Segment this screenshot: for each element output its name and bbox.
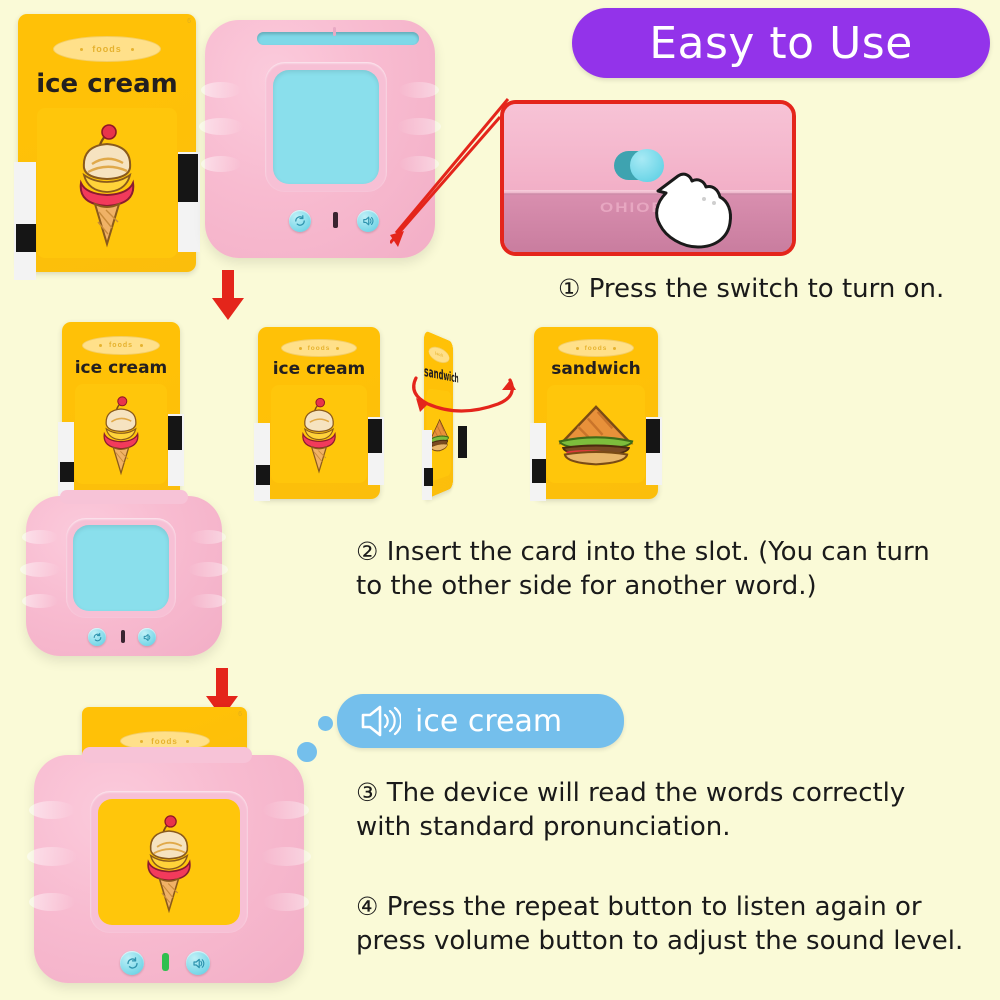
card-category-label: foods — [109, 342, 133, 349]
speaker-icon — [357, 703, 401, 739]
speech-word: ice cream — [415, 704, 562, 739]
speech-bubble: ice cream — [337, 694, 624, 748]
device-bottom — [34, 755, 304, 983]
card-inserted-ice-cream: foods ice cream — [62, 322, 180, 500]
down-arrow-1 — [206, 270, 250, 322]
card-word-label: ice cream — [18, 69, 196, 99]
repeat-icon — [125, 956, 140, 971]
card-category-label: foods — [435, 351, 443, 359]
step-4-line-1: Press the repeat button to listen again … — [387, 892, 922, 922]
ice-cream-cone-icon — [68, 118, 146, 248]
step-1-number: ① — [558, 274, 580, 303]
card-category-label: foods — [92, 44, 122, 54]
card-illustration — [37, 108, 177, 258]
step-4-text: ④ Press the repeat button to listen agai… — [356, 890, 1000, 959]
switch-callout: OHIOE — [500, 100, 796, 256]
pointing-hand-icon — [644, 159, 744, 251]
step-3-number: ③ — [356, 778, 378, 807]
repeat-button[interactable] — [88, 628, 106, 646]
step-2-number: ② — [356, 537, 378, 566]
down-arrow-icon — [206, 270, 250, 322]
card-word-label: ice cream — [258, 359, 380, 379]
card-word-label: ice cream — [62, 358, 180, 378]
step-2-line-1: Insert the card into the slot. (You can … — [387, 537, 930, 567]
repeat-button[interactable] — [120, 951, 144, 975]
status-led — [333, 212, 338, 228]
step-4-line-2: press volume button to adjust the sound … — [356, 926, 963, 956]
card-illustration — [547, 385, 645, 483]
card-top-ice-cream: foods ice cream 6 — [18, 14, 196, 272]
ice-cream-cone-icon — [138, 809, 200, 915]
card-word-label: sandwich — [534, 359, 658, 379]
repeat-button[interactable] — [289, 210, 311, 232]
speech-dot-tiny — [316, 714, 335, 733]
step-1-text: ① Press the switch to turn on. — [558, 272, 998, 306]
card-row-ice-cream: foods ice cream — [258, 327, 380, 499]
card-illustration — [271, 385, 367, 483]
device-screen — [73, 525, 169, 611]
card-category-label: foods — [585, 345, 608, 352]
card-illustration — [75, 384, 167, 484]
step-1-label: Press the switch to turn on. — [589, 274, 945, 304]
device-middle — [26, 496, 222, 656]
step-3-text: ③ The device will read the words correct… — [356, 776, 996, 845]
rotate-arrow-icon — [398, 360, 528, 424]
card-corner-mark: 6 — [187, 18, 191, 25]
sandwich-icon — [555, 402, 637, 466]
ice-cream-cone-icon — [295, 392, 343, 476]
step-2-text: ② Insert the card into the slot. (You ca… — [356, 535, 996, 604]
card-category-label: foods — [151, 737, 178, 746]
step-3-line-2: with standard pronunciation. — [356, 812, 731, 842]
step-3-line-1: The device will read the words correctly — [387, 778, 906, 808]
device-screen — [98, 799, 240, 925]
title-text: Easy to Use — [649, 18, 913, 69]
repeat-icon — [92, 632, 103, 643]
step-4-number: ④ — [356, 892, 378, 921]
status-led — [121, 630, 125, 643]
step-2-line-2: to the other side for another word.) — [356, 571, 817, 601]
volume-icon — [142, 632, 153, 643]
title-banner: Easy to Use — [572, 8, 990, 78]
card-row-sandwich: foods sandwich — [534, 327, 658, 499]
volume-button[interactable] — [138, 628, 156, 646]
speech-dot-small — [295, 740, 319, 764]
volume-button[interactable] — [357, 210, 379, 232]
infographic-canvas: Easy to Use foods ice cream 6 — [0, 0, 1000, 1000]
volume-icon — [191, 956, 206, 971]
card-corner-mark: 6 — [238, 711, 242, 718]
volume-icon — [361, 214, 375, 228]
device-screen — [273, 70, 379, 184]
volume-button[interactable] — [186, 951, 210, 975]
card-category-label: foods — [308, 345, 331, 352]
ice-cream-cone-icon — [96, 391, 146, 477]
status-led — [162, 953, 169, 971]
card-slot[interactable] — [257, 32, 419, 45]
repeat-icon — [293, 214, 307, 228]
